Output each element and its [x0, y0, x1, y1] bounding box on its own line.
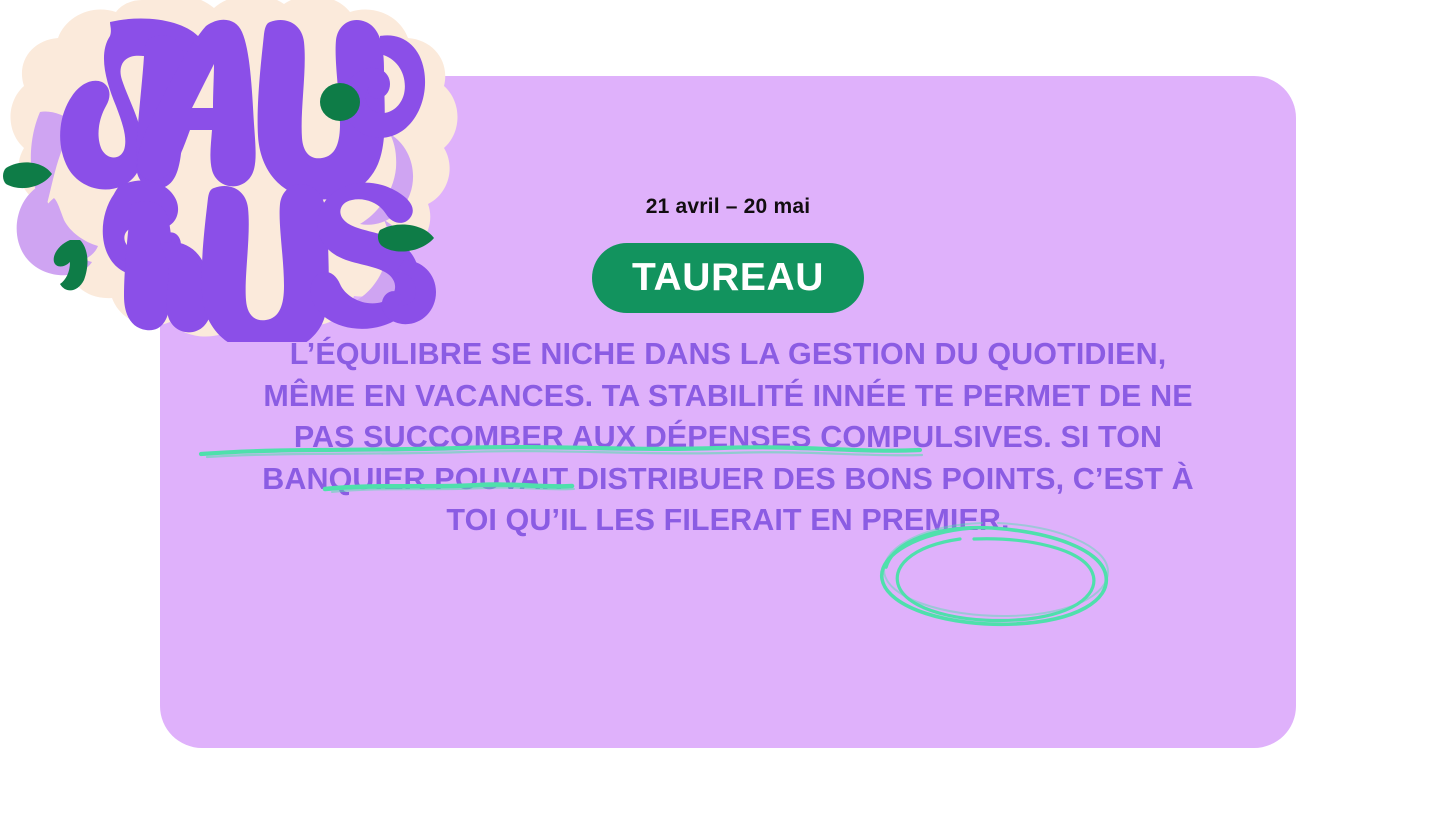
- poster-canvas: 21 avril – 20 mai TAUREAU L’ÉQUILIBRE SE…: [0, 0, 1456, 819]
- zodiac-sign-badge: TAUREAU: [592, 243, 864, 313]
- circle-scribble-premier-inner: [897, 539, 1094, 621]
- circle-scribble-premier: [882, 528, 1107, 625]
- green-dot-icon: [320, 83, 360, 121]
- horoscope-prediction-text: L’ÉQUILIBRE SE NICHE DANS LA GESTION DU …: [248, 334, 1208, 542]
- taurus-lettering-logo: [0, 0, 462, 342]
